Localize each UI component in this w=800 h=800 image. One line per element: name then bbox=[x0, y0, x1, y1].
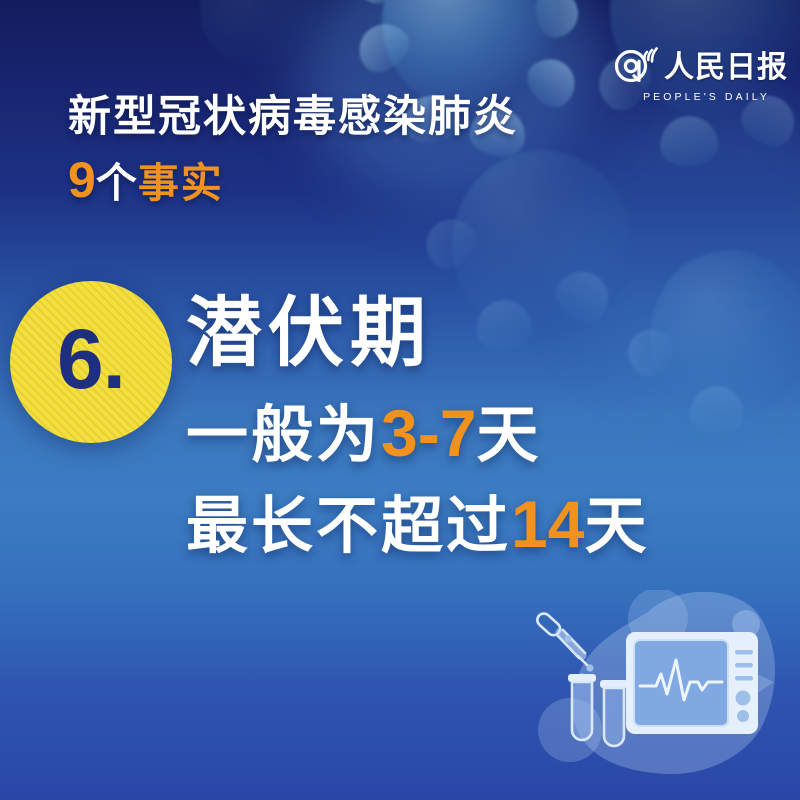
dropper-bulb bbox=[565, 636, 572, 643]
typical-unit: 天 bbox=[476, 401, 541, 470]
virus-spike-icon bbox=[531, 0, 582, 41]
fact-line-typical: 一般为3-7天 bbox=[186, 400, 786, 467]
virus-spike-icon bbox=[415, 208, 484, 277]
series-title: 新型冠状病毒感染肺炎 bbox=[68, 96, 708, 139]
dropper-icon bbox=[535, 611, 588, 666]
series-heading: 新型冠状病毒感染肺炎 9个事实 bbox=[68, 96, 708, 205]
at-signal-icon bbox=[612, 47, 658, 89]
series-facts-label: 事实 bbox=[138, 160, 224, 206]
monitor-indicator-bar bbox=[735, 650, 753, 655]
monitor-indicator-bar bbox=[735, 663, 753, 668]
virus-particle bbox=[200, 0, 320, 70]
monitor-indicator-bar bbox=[735, 676, 753, 681]
fact-line-maximum: 最长不超过14天 bbox=[186, 491, 786, 558]
virus-spike-icon bbox=[351, 0, 398, 6]
maximum-value: 14 bbox=[511, 487, 584, 561]
series-fact-count: 9 bbox=[68, 152, 96, 208]
series-subtitle: 9个事实 bbox=[68, 155, 708, 205]
ecg-monitor-icon bbox=[626, 632, 758, 734]
series-measure-word: 个 bbox=[96, 160, 138, 206]
maximum-unit: 天 bbox=[584, 492, 649, 561]
typical-value: 3-7 bbox=[381, 396, 476, 470]
monitor-knob[interactable] bbox=[736, 691, 751, 706]
fact-number: 6. bbox=[57, 317, 125, 401]
virus-spike-icon bbox=[349, 14, 417, 81]
poster-canvas: 人民日报 PEOPLE'S DAILY 新型冠状病毒感染肺炎 9个事实 6. 潜… bbox=[0, 0, 800, 800]
monitor-knob[interactable] bbox=[737, 710, 749, 722]
maximum-prefix: 最长不超过 bbox=[186, 492, 511, 561]
fact-statement: 潜伏期 一般为3-7天 最长不超过14天 bbox=[186, 296, 786, 558]
fact-number-badge: 6. bbox=[10, 281, 172, 443]
logo-name-cn: 人民日报 bbox=[664, 53, 788, 83]
fact-title: 潜伏期 bbox=[186, 296, 786, 372]
medical-illustration bbox=[530, 590, 800, 800]
dropper-droplet bbox=[586, 664, 593, 671]
typical-prefix: 一般为 bbox=[186, 401, 381, 470]
